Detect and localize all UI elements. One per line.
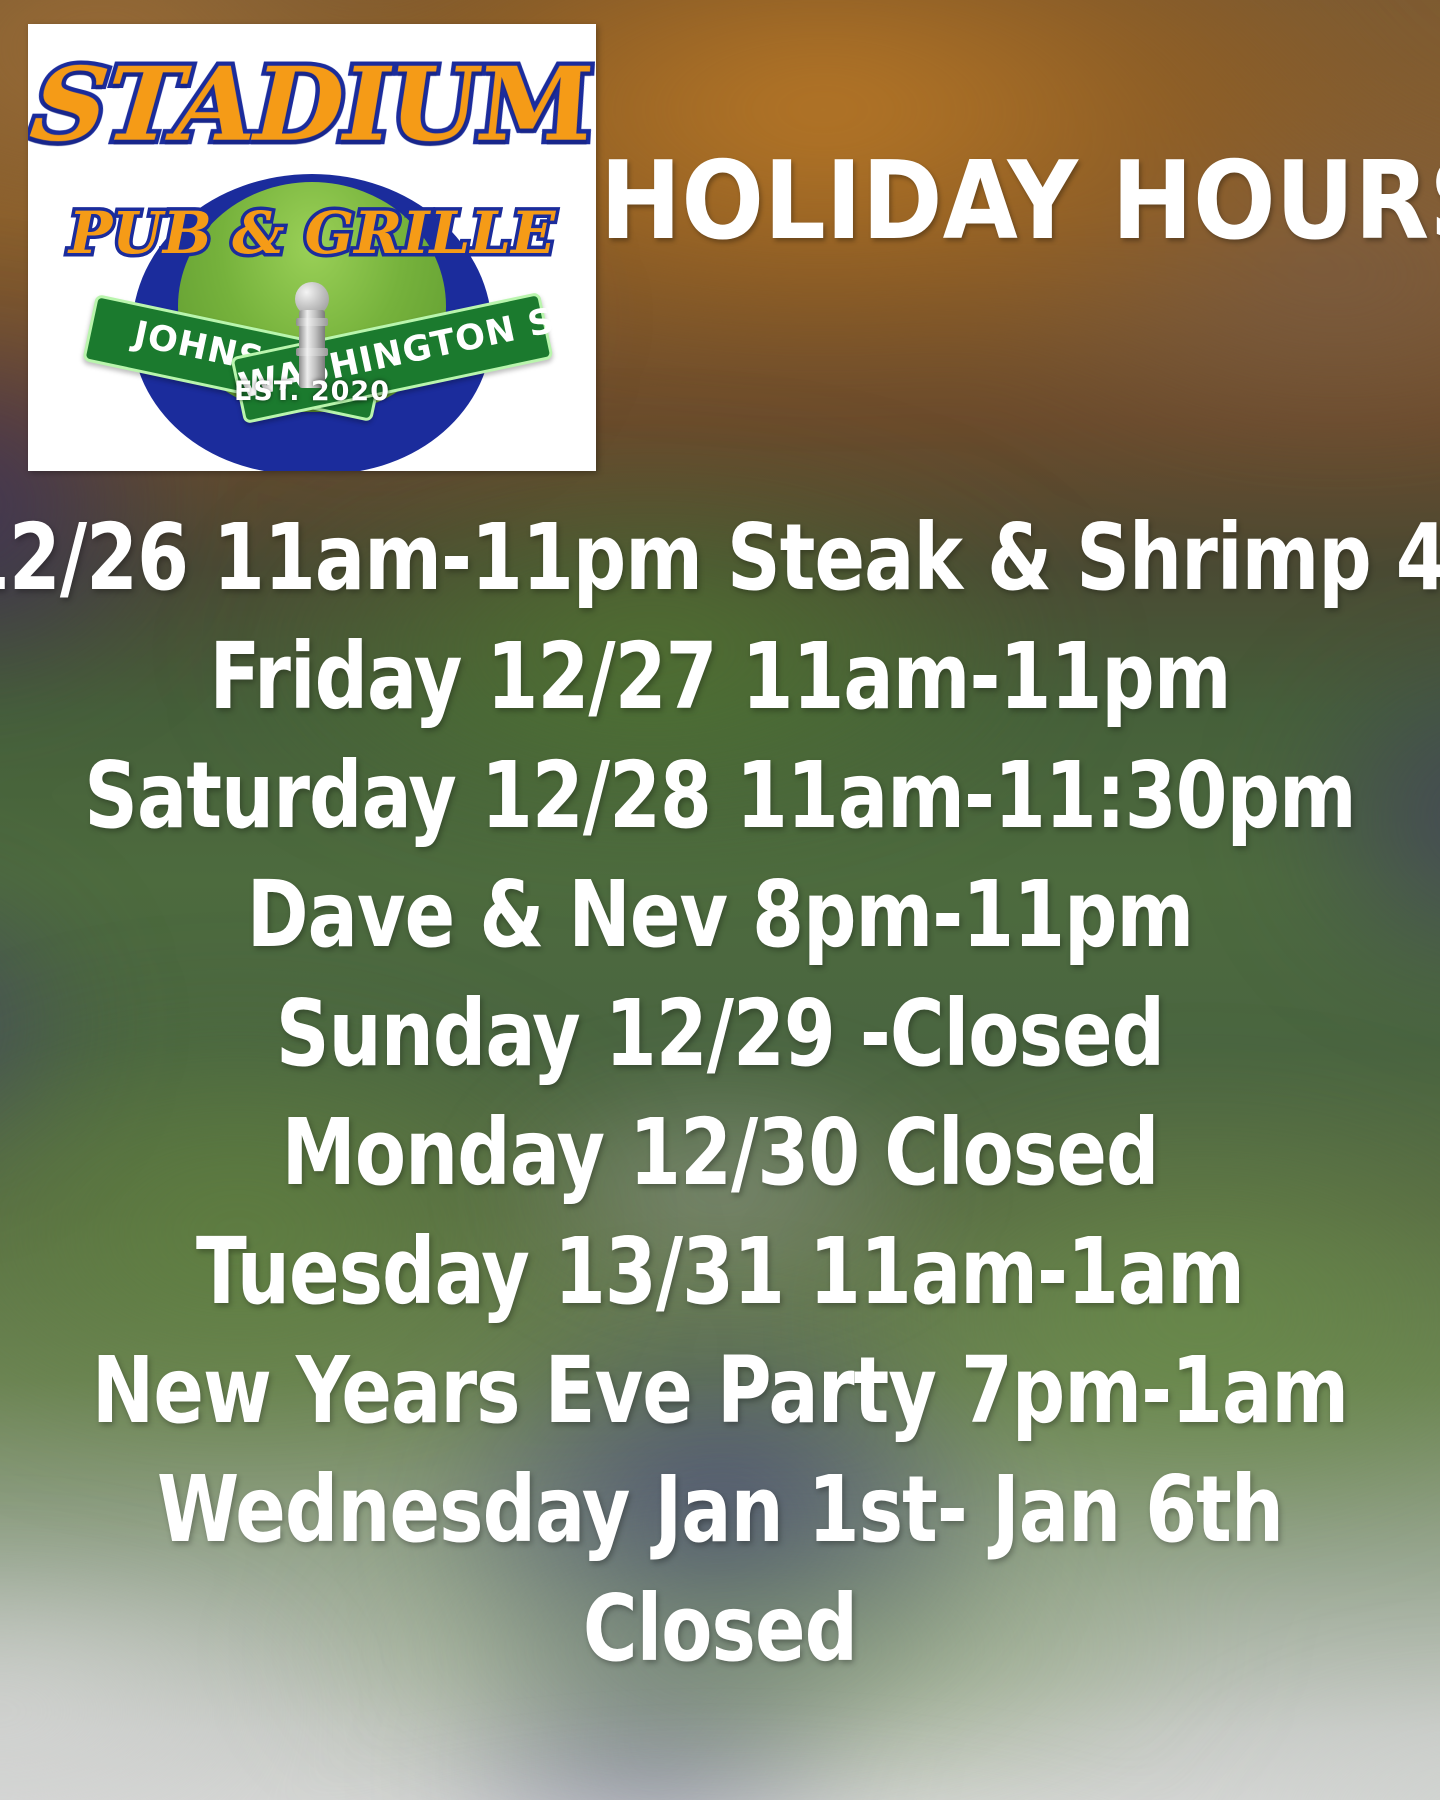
hours-line: 12/26 11am-11pm Steak & Shrimp 4 bbox=[0, 498, 1362, 617]
hours-line: Dave & Nev 8pm-11pm bbox=[72, 855, 1368, 974]
hours-line: New Years Eve Party 7pm-1am bbox=[72, 1331, 1368, 1450]
hours-line: Closed bbox=[72, 1569, 1368, 1688]
hours-line: Tuesday 13/31 11am-1am bbox=[72, 1212, 1368, 1331]
signpost-finial-icon bbox=[293, 282, 331, 390]
hours-line: Saturday 12/28 11am-11:30pm bbox=[72, 736, 1368, 855]
logo-established-year: EST. 2020 bbox=[28, 376, 596, 407]
hours-line: Sunday 12/29 -Closed bbox=[72, 974, 1368, 1093]
logo-wordmark-stadium: STADIUM bbox=[28, 45, 596, 165]
hours-line: Friday 12/27 11am-11pm bbox=[72, 617, 1368, 736]
logo-wordmark-pub-and-grille: PUB & GRILLE bbox=[28, 199, 596, 267]
stadium-pub-grille-logo: STADIUM PUB & GRILLE JOHNS ST. WASHINGTO… bbox=[28, 24, 596, 471]
hours-line: Monday 12/30 Closed bbox=[72, 1093, 1368, 1212]
hours-line: Wednesday Jan 1st- Jan 6th bbox=[72, 1450, 1368, 1569]
poster-content: STADIUM PUB & GRILLE JOHNS ST. WASHINGTO… bbox=[0, 0, 1440, 1800]
signpost-ring-upper bbox=[296, 318, 328, 326]
signpost-ring-lower bbox=[296, 348, 328, 356]
logo-artwork: STADIUM PUB & GRILLE JOHNS ST. WASHINGTO… bbox=[28, 24, 596, 471]
holiday-hours-list: 12/26 11am-11pm Steak & Shrimp 4 Friday … bbox=[0, 498, 1440, 1688]
page-title: HOLIDAY HOURS bbox=[600, 148, 1430, 256]
holiday-hours-poster: STADIUM PUB & GRILLE JOHNS ST. WASHINGTO… bbox=[0, 0, 1440, 1800]
